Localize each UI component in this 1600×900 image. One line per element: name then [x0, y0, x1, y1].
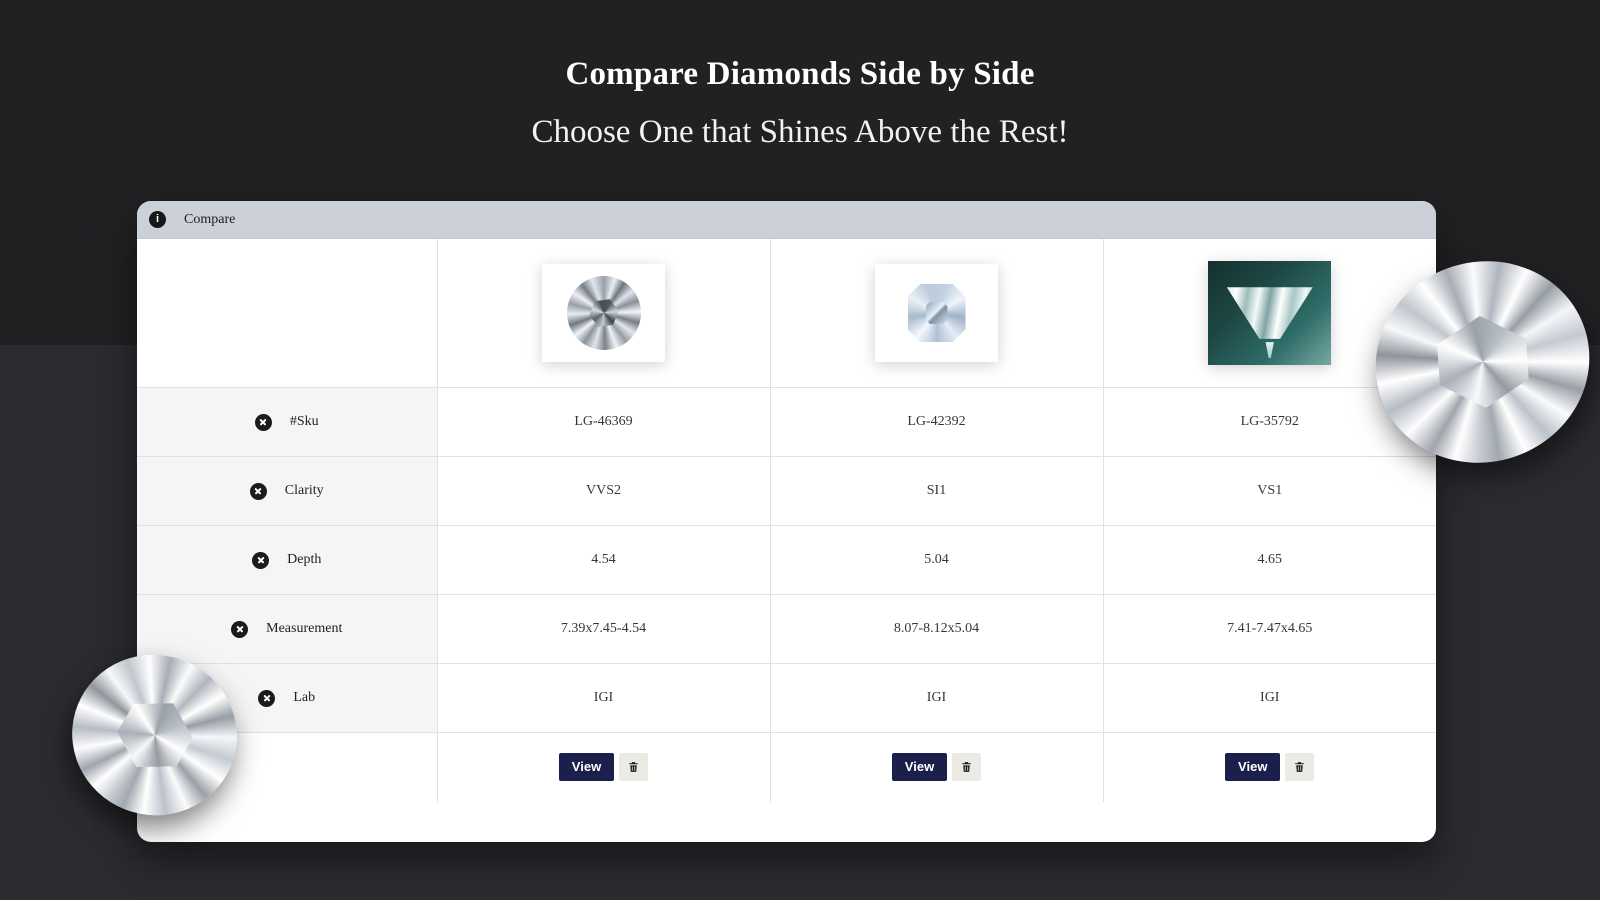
cell-measurement-3: 7.41-7.47x4.65 — [1103, 595, 1436, 664]
cell-depth-3: 4.65 — [1103, 526, 1436, 595]
round-brilliant-diamond-image[interactable] — [542, 264, 665, 362]
row-label-depth: Depth — [287, 552, 321, 568]
trash-icon — [1293, 760, 1306, 774]
cell-measurement-2: 8.07-8.12x5.04 — [770, 595, 1103, 664]
remove-circle-icon[interactable] — [255, 414, 272, 431]
table-row-measurement: Measurement 7.39x7.45-4.54 8.07-8.12x5.0… — [137, 595, 1436, 664]
trash-icon — [960, 760, 973, 774]
cell-depth-2: 5.04 — [770, 526, 1103, 595]
actions-cell-3: View — [1103, 733, 1436, 802]
delete-button-3[interactable] — [1285, 753, 1314, 781]
row-label-clarity: Clarity — [285, 483, 324, 499]
cell-lab-2: IGI — [770, 664, 1103, 733]
side-view-diamond-image[interactable] — [1208, 261, 1331, 365]
cell-clarity-3: VS1 — [1103, 457, 1436, 526]
row-label-cell-lab: Lab — [137, 664, 437, 733]
table-row-clarity: Clarity VVS2 SI1 VS1 — [137, 457, 1436, 526]
table-row-lab: Lab IGI IGI IGI — [137, 664, 1436, 733]
row-label-cell-depth: Depth — [137, 526, 437, 595]
row-label-cell-measurement: Measurement — [137, 595, 437, 664]
view-button-2[interactable]: View — [892, 753, 947, 781]
cell-depth-1: 4.54 — [437, 526, 770, 595]
cell-sku-2: LG-42392 — [770, 388, 1103, 457]
remove-circle-icon[interactable] — [250, 483, 267, 500]
actions-row-label-cell — [137, 733, 437, 802]
cell-measurement-1: 7.39x7.45-4.54 — [437, 595, 770, 664]
thumbnail-cell-2 — [770, 239, 1103, 388]
row-label-cell-clarity: Clarity — [137, 457, 437, 526]
thumbnail-row-label-cell — [137, 239, 437, 388]
row-label-lab: Lab — [293, 690, 315, 706]
compare-header-bar: i Compare — [137, 201, 1436, 239]
delete-button-1[interactable] — [619, 753, 648, 781]
cell-clarity-2: SI1 — [770, 457, 1103, 526]
asscher-cut-diamond-image[interactable] — [875, 264, 998, 362]
remove-circle-icon[interactable] — [231, 621, 248, 638]
comparison-table: #Sku LG-46369 LG-42392 LG-35792 Clarity … — [137, 239, 1436, 802]
info-circle-icon: i — [149, 211, 166, 228]
thumbnail-cell-1 — [437, 239, 770, 388]
remove-circle-icon[interactable] — [252, 552, 269, 569]
table-row-thumbnails — [137, 239, 1436, 388]
actions-cell-2: View — [770, 733, 1103, 802]
table-row-actions: View View — [137, 733, 1436, 802]
compare-header-title: Compare — [184, 212, 235, 228]
table-row-depth: Depth 4.54 5.04 4.65 — [137, 526, 1436, 595]
cell-clarity-1: VVS2 — [437, 457, 770, 526]
row-label-measurement: Measurement — [266, 621, 342, 637]
page-title: Compare Diamonds Side by Side — [0, 55, 1600, 95]
cell-lab-1: IGI — [437, 664, 770, 733]
actions-cell-1: View — [437, 733, 770, 802]
row-label-cell-sku: #Sku — [137, 388, 437, 457]
page-subtitle: Choose One that Shines Above the Rest! — [0, 113, 1600, 153]
cell-sku-3: LG-35792 — [1103, 388, 1436, 457]
compare-card: i Compare — [137, 201, 1436, 842]
cell-lab-3: IGI — [1103, 664, 1436, 733]
page-heading: Compare Diamonds Side by Side Choose One… — [0, 55, 1600, 152]
delete-button-2[interactable] — [952, 753, 981, 781]
table-row-sku: #Sku LG-46369 LG-42392 LG-35792 — [137, 388, 1436, 457]
view-button-1[interactable]: View — [559, 753, 614, 781]
cell-sku-1: LG-46369 — [437, 388, 770, 457]
row-label-sku: #Sku — [290, 414, 319, 430]
view-button-3[interactable]: View — [1225, 753, 1280, 781]
thumbnail-cell-3 — [1103, 239, 1436, 388]
remove-circle-icon[interactable] — [258, 690, 275, 707]
trash-icon — [627, 760, 640, 774]
